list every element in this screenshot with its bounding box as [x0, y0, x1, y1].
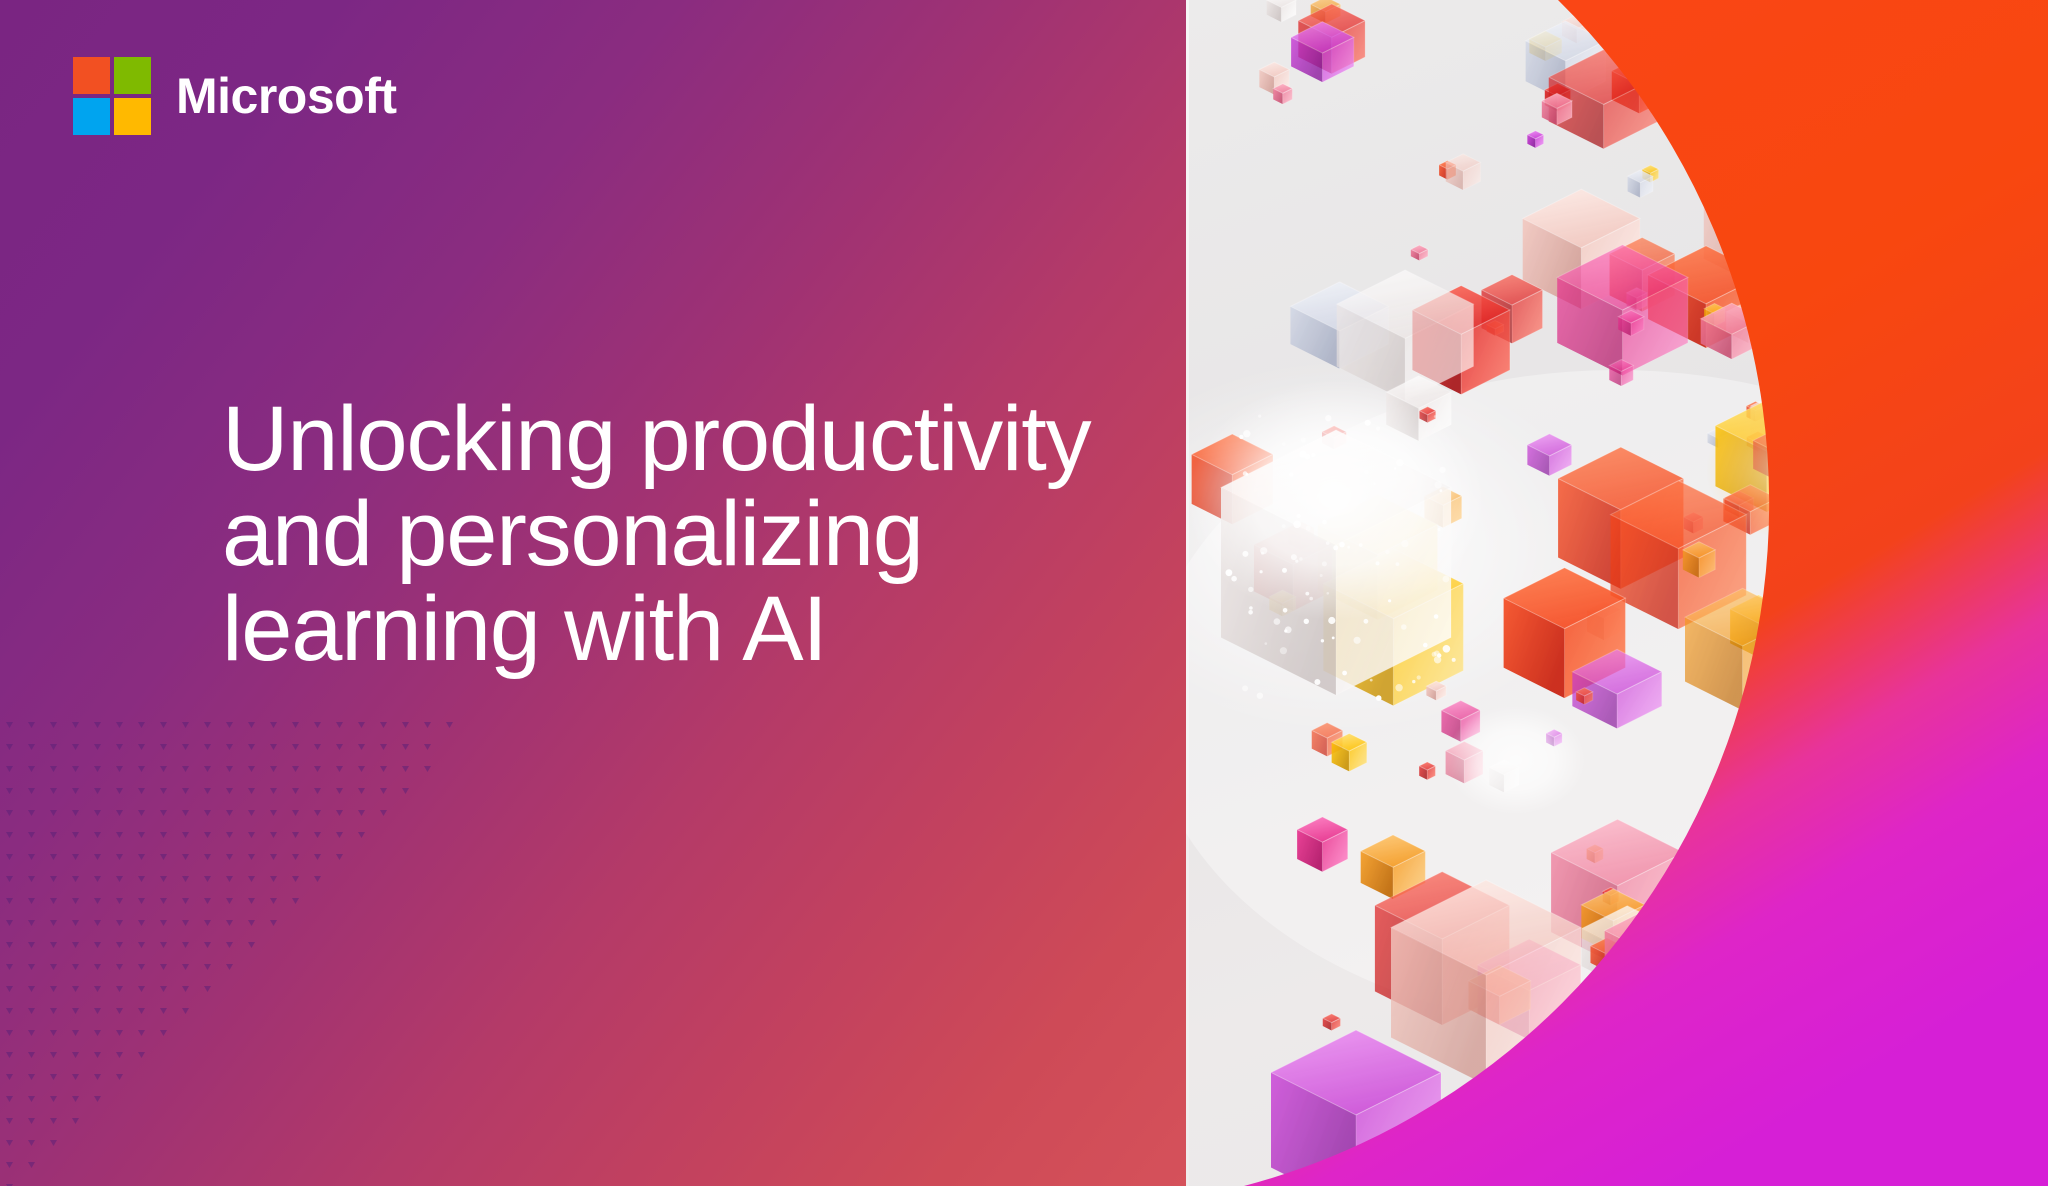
left-gradient-panel: Microsoft Unlocking productivity and per… [0, 0, 1186, 1186]
blue-square-icon [73, 98, 110, 135]
title-slide: Microsoft Unlocking productivity and per… [0, 0, 2048, 1186]
microsoft-logo-grid [73, 57, 151, 135]
yellow-square-icon [114, 98, 151, 135]
glass-cubes-artwork [1186, 0, 2048, 1186]
slide-title: Unlocking productivity and personalizing… [222, 392, 1122, 677]
artwork-panel [1186, 0, 2048, 1186]
microsoft-logo: Microsoft [73, 57, 397, 135]
microsoft-wordmark: Microsoft [176, 71, 397, 121]
triangle-dot-pattern [0, 716, 460, 1186]
green-square-icon [114, 57, 151, 94]
title-block: Unlocking productivity and personalizing… [222, 392, 1122, 677]
red-square-icon [73, 57, 110, 94]
